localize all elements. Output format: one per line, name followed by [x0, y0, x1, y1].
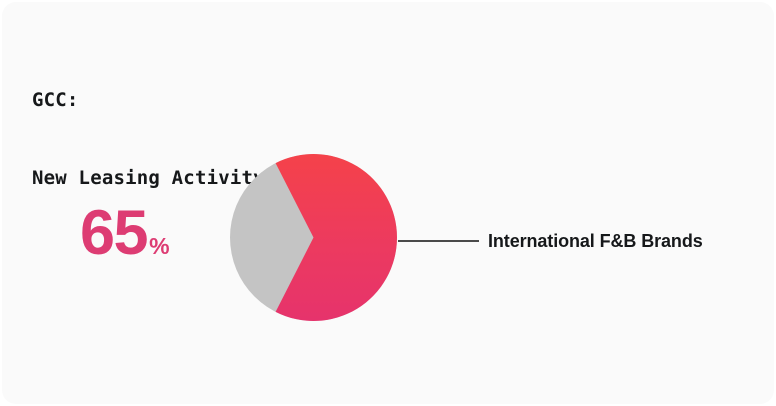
- callout-label: International F&B Brands: [488, 229, 703, 253]
- callout-leader-line: [398, 240, 479, 242]
- pie-chart-svg: [230, 154, 397, 321]
- chart-card: GCC: New Leasing Activity 65 % Internati…: [2, 2, 774, 404]
- pie-chart: [230, 154, 397, 321]
- stat-unit-percent: %: [147, 235, 169, 262]
- title-line-1: GCC:: [32, 87, 265, 113]
- stat-value: 65: [80, 204, 147, 262]
- stat-callout: 65 %: [80, 204, 169, 262]
